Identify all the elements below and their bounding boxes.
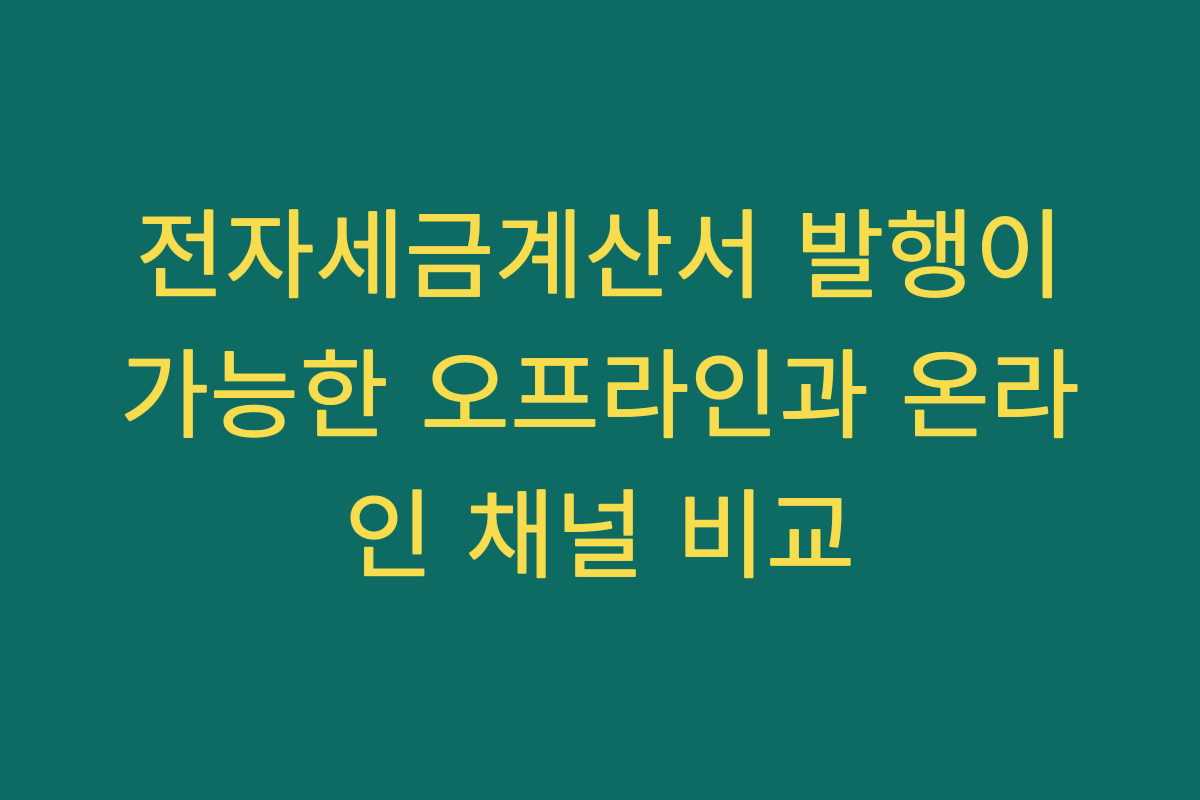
banner-canvas: 전자세금계산서 발행이 가능한 오프라인과 온라 인 채널 비교 — [0, 0, 1200, 800]
headline-line-3: 인 채널 비교 — [95, 467, 1105, 607]
headline-line-2: 가능한 오프라인과 온라 — [95, 327, 1105, 467]
headline-line-1: 전자세금계산서 발행이 — [95, 187, 1105, 327]
page-title: 전자세금계산서 발행이 가능한 오프라인과 온라 인 채널 비교 — [95, 187, 1105, 607]
